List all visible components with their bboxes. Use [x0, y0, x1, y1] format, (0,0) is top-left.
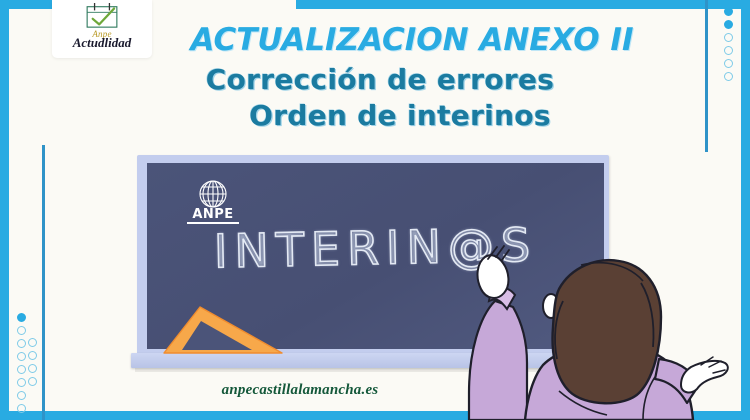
decor-dot [724, 7, 733, 16]
accent-line-right [705, 0, 708, 152]
page-title: ACTUALIZACION ANEXO II [152, 22, 672, 58]
set-square-icon [160, 305, 285, 357]
decor-dot [724, 46, 733, 55]
subtitle-line-1: Corrección de errores [100, 63, 660, 96]
decor-dot [17, 391, 26, 400]
decor-dots-bottom-left [28, 338, 37, 386]
anpe-wordmark: ANPE [185, 208, 241, 221]
decor-dot [17, 313, 26, 322]
decor-dot [724, 33, 733, 42]
anpe-actualidad-logo: Anpe Actudlidad [52, 0, 152, 58]
website-url: anpecastillalamancha.es [135, 382, 465, 399]
decor-dot [28, 351, 37, 360]
subtitle-line-2: Orden de interinos [120, 99, 680, 132]
decor-dot [724, 59, 733, 68]
decor-dot [28, 338, 37, 347]
anpe-org-logo: ANPE [185, 179, 241, 224]
decor-dot [724, 20, 733, 29]
teacher-figure [455, 243, 750, 420]
decor-dot [17, 339, 26, 348]
decor-dot [28, 364, 37, 373]
logo-actualidad-text: Actudlidad [73, 36, 132, 49]
decor-dot [17, 378, 26, 387]
decor-dot [17, 404, 26, 413]
decor-dot [17, 352, 26, 361]
calendar-check-icon [83, 3, 121, 29]
decor-dot [28, 377, 37, 386]
poster-canvas: Anpe Actudlidad ACTUALIZACION ANEXO II C… [0, 0, 750, 420]
decor-dot [17, 365, 26, 374]
frame-bar-top-right [296, 0, 750, 9]
accent-line-left [42, 145, 45, 420]
decor-dots-top-right [724, 7, 733, 81]
globe-grid-icon [185, 179, 241, 209]
decor-dot [17, 326, 26, 335]
frame-bar-left [0, 0, 9, 420]
decor-dots-left [17, 313, 26, 413]
decor-dot [724, 72, 733, 81]
